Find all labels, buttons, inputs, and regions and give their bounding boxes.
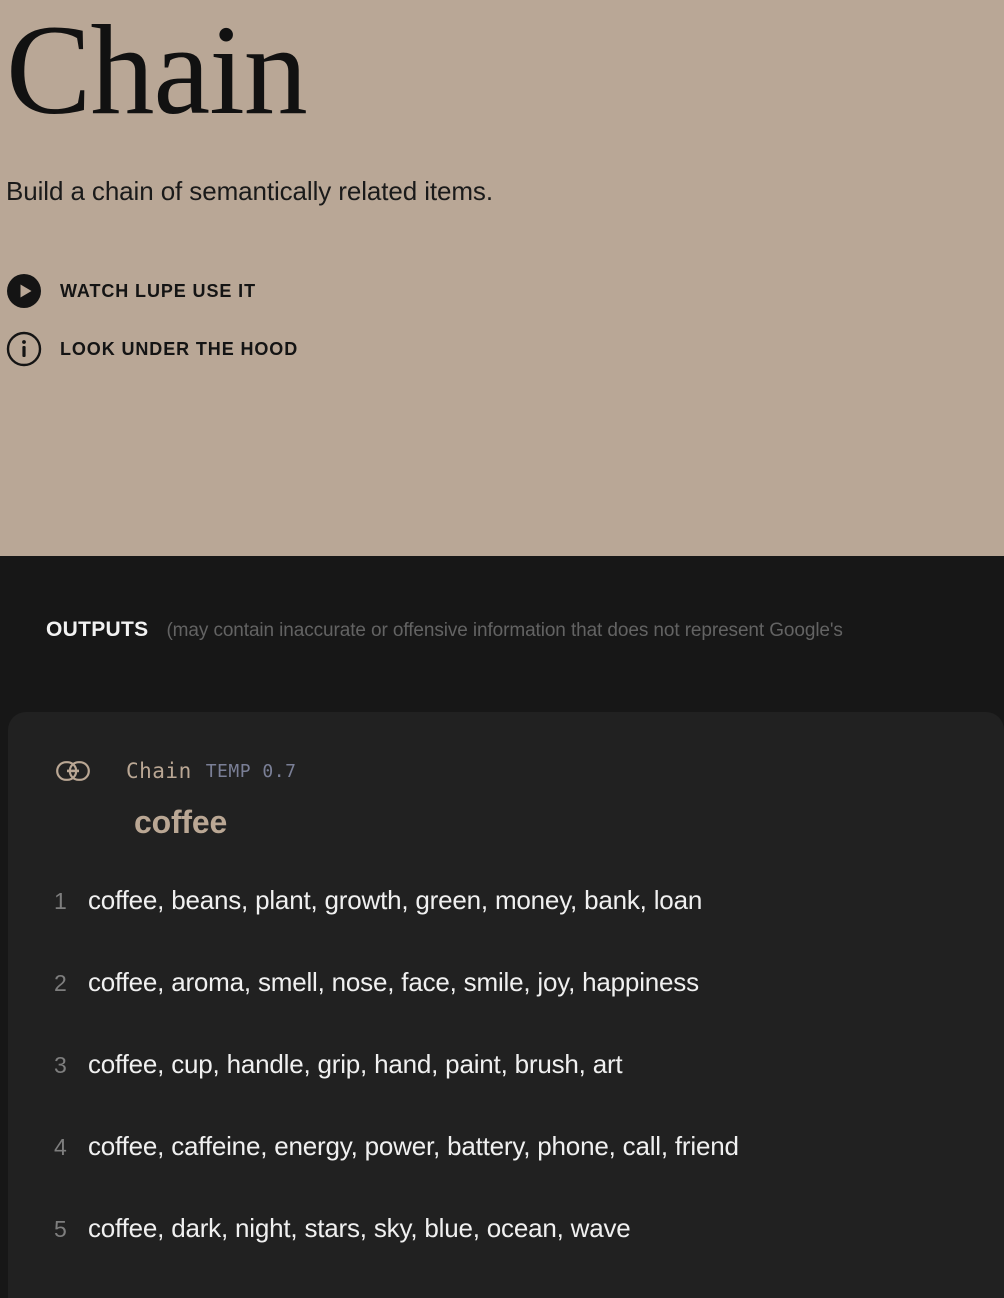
list-item[interactable]: 5 coffee, dark, night, stars, sky, blue,… <box>8 1213 1004 1295</box>
list-item[interactable]: 3 coffee, cup, handle, grip, hand, paint… <box>8 1049 1004 1131</box>
list-item-index: 2 <box>8 970 88 997</box>
list-item-text: coffee, cup, handle, grip, hand, paint, … <box>88 1049 622 1080</box>
hero-link-list: WATCH LUPE USE IT LOOK UNDER THE HOOD <box>6 273 1004 367</box>
list-item-index: 3 <box>8 1052 88 1079</box>
info-circle-icon <box>6 331 42 367</box>
watch-demo-label: WATCH LUPE USE IT <box>60 281 256 302</box>
page-subtitle: Build a chain of semantically related it… <box>6 134 1004 207</box>
outputs-header: OUTPUTS (may contain inaccurate or offen… <box>0 556 1004 712</box>
list-item-index: 5 <box>8 1216 88 1243</box>
seed-word: coffee <box>134 804 1004 841</box>
output-card-meta: Chain TEMP 0.7 <box>8 756 1004 786</box>
watch-demo-link[interactable]: WATCH LUPE USE IT <box>6 273 256 309</box>
list-item[interactable]: 4 coffee, caffeine, energy, power, batte… <box>8 1131 1004 1213</box>
list-item-text: coffee, beans, plant, growth, green, mon… <box>88 885 702 916</box>
list-item-index: 1 <box>8 888 88 915</box>
hero-section: Chain Build a chain of semantically rela… <box>0 0 1004 556</box>
temperature-badge: TEMP 0.7 <box>206 761 297 782</box>
under-the-hood-label: LOOK UNDER THE HOOD <box>60 339 298 360</box>
under-the-hood-link[interactable]: LOOK UNDER THE HOOD <box>6 331 298 367</box>
page-title: Chain <box>6 0 1004 134</box>
list-item[interactable]: 2 coffee, aroma, smell, nose, face, smil… <box>8 967 1004 1049</box>
list-item[interactable]: 1 coffee, beans, plant, growth, green, m… <box>8 885 1004 967</box>
list-item-text: coffee, aroma, smell, nose, face, smile,… <box>88 967 699 998</box>
link-icon <box>56 761 96 781</box>
list-item-index: 4 <box>8 1134 88 1161</box>
list-item-text: coffee, dark, night, stars, sky, blue, o… <box>88 1213 631 1244</box>
play-circle-icon <box>6 273 42 309</box>
model-name: Chain <box>126 759 192 783</box>
output-card: Chain TEMP 0.7 coffee 1 coffee, beans, p… <box>8 712 1004 1298</box>
list-item-text: coffee, caffeine, energy, power, battery… <box>88 1131 739 1162</box>
chain-results-list: 1 coffee, beans, plant, growth, green, m… <box>8 885 1004 1295</box>
outputs-disclaimer: (may contain inaccurate or offensive inf… <box>166 620 842 642</box>
outputs-label: OUTPUTS <box>46 618 148 642</box>
